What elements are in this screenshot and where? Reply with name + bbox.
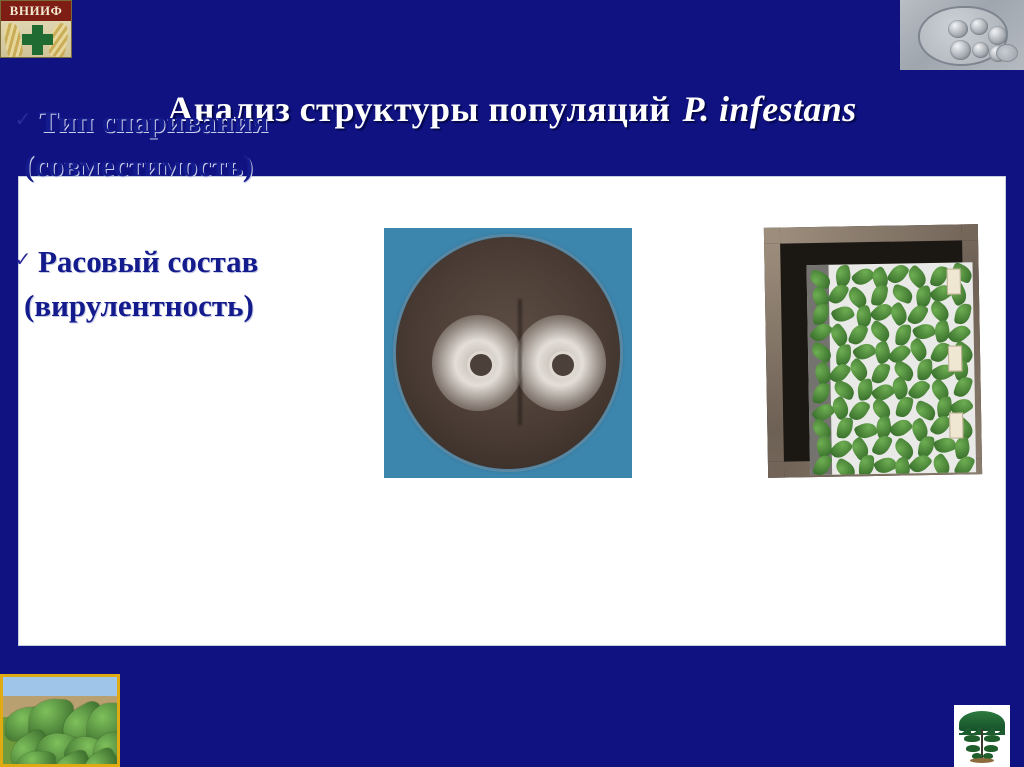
potato-leaflet [832,457,858,475]
potato-leaflet [953,303,971,326]
check-icon: ✓ [8,240,38,280]
green-cross-icon-bar [22,34,53,45]
potato-leaflet [836,416,853,438]
petri-dish [396,237,620,469]
potato-leaflet [831,303,856,326]
agar-plug-right [549,351,577,379]
potato-leaflet [886,262,910,287]
potato-leaflet [917,359,932,380]
slide-title-species: P. infestans [682,89,856,129]
potato-leaflet [870,433,892,458]
potato-leaflet [890,283,915,304]
spore [948,20,968,38]
bullet-list: ✓ Тип спаривания (совместимость) ✓ Расов… [8,100,378,380]
vniif-logo-band: ВНИИФ [1,1,71,21]
bullet-line-1: Тип спаривания [38,104,268,139]
spore [988,26,1007,45]
leaf [966,745,980,752]
potato-leaflet [836,344,852,366]
antheridium [996,44,1018,62]
wooden-tray-frame [764,224,982,478]
oospore-microscopy-photo [900,0,1024,70]
potato-leaflet [895,324,911,346]
potato-leaflet [888,415,914,440]
vniif-logo: ВНИИФ [0,0,72,58]
potato-leaflet [856,379,873,402]
soil-mound [970,758,994,763]
leaf-tray-virulence-assay-photo [762,222,984,480]
potato-leaflet [929,453,953,475]
label-tab [948,345,962,371]
bullet-line-2: (вирулентность) [24,284,258,328]
leaf [964,735,980,742]
spore [950,40,971,60]
agar-plug-left [467,351,495,379]
bullet-line-2: (совместимость) [24,144,268,188]
potato-leaflet [872,454,898,475]
potato-leaflet [827,281,850,307]
spore [970,18,988,35]
leaf [984,735,1000,742]
bullet-item-mating-type: ✓ Тип спаривания (совместимость) [8,100,378,188]
wheat-left-icon [2,22,24,58]
label-tab [949,412,963,438]
colony-contact-zone [518,299,522,425]
petri-dish-mating-test-photo [384,228,632,478]
potato-leaflet [867,320,893,344]
oospore-outline [918,6,1008,66]
potato-field-leaves-photo [0,674,120,767]
slide-root: ВНИИФ Анализ структуры популяцийP. infes… [0,0,1024,767]
spore [972,42,989,58]
vniif-logo-acronym: ВНИИФ [10,3,63,19]
bullet-line-1: Расовый состав [38,244,258,279]
bullet-item-race-composition: ✓ Расовый состав (вирулентность) [8,240,378,328]
bullet-text-race-composition: Расовый состав (вирулентность) [38,240,258,328]
label-tab [947,268,961,294]
umbrella-icon [959,711,1005,731]
plant-protection-umbrella-logo [954,705,1010,767]
check-icon: ✓ [8,100,38,140]
potato-leaflet [871,361,891,385]
leaf [984,745,998,752]
bullet-text-mating-type: Тип спаривания (совместимость) [38,100,268,188]
potato-leaflet [859,455,874,475]
